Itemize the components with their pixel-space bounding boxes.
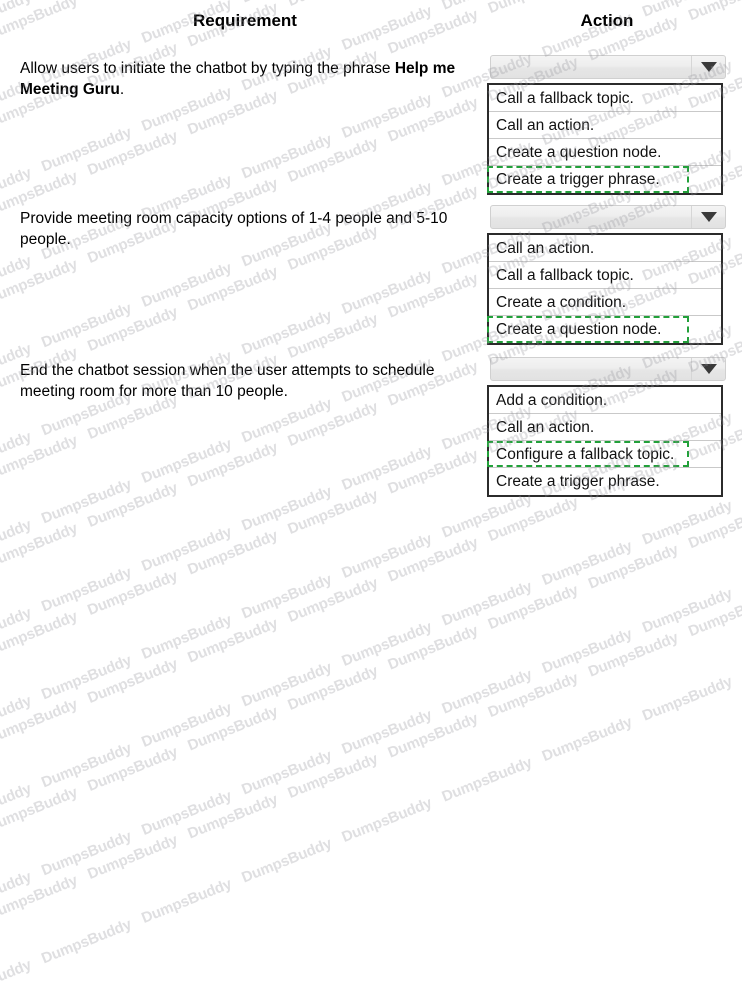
action-option-list-3[interactable]: Add a condition. Call an action. Configu… <box>487 385 723 497</box>
watermark-text: DumpsBuddy <box>335 778 452 859</box>
watermark-text: DumpsBuddy <box>381 605 498 686</box>
watermark-text: DumpsBuddy <box>0 940 51 992</box>
watermark-text: DumpsBuddy <box>80 815 197 896</box>
watermark-text: DumpsBuddy <box>735 528 742 609</box>
watermark-text: DumpsBuddy <box>134 595 251 676</box>
watermark-text: DumpsBuddy <box>34 635 151 716</box>
requirement-text: Provide meeting room capacity options of… <box>20 208 465 250</box>
action-option-list-2[interactable]: Call an action. Call a fallback topic. C… <box>487 233 723 345</box>
watermark-text: DumpsBuddy <box>0 679 97 760</box>
requirement-text-suffix: . <box>120 81 124 98</box>
watermark-text: DumpsBuddy <box>335 602 452 683</box>
watermark-text: DumpsBuddy <box>0 855 97 936</box>
watermark-text: DumpsBuddy <box>435 561 552 642</box>
requirement-text: End the chatbot session when the user at… <box>20 360 465 402</box>
watermark-text: DumpsBuddy <box>180 510 297 591</box>
watermark-text: DumpsBuddy <box>234 730 351 811</box>
option-item[interactable]: Create a trigger phrase. <box>489 468 721 495</box>
watermark-text: DumpsBuddy <box>281 734 398 815</box>
chevron-down-icon[interactable] <box>691 358 725 380</box>
option-item[interactable]: Create a question node. <box>489 139 721 166</box>
option-item[interactable]: Create a condition. <box>489 289 721 316</box>
option-item[interactable]: Call an action. <box>489 112 721 139</box>
watermark-text: DumpsBuddy <box>80 639 197 720</box>
watermark-text: DumpsBuddy <box>481 565 598 646</box>
watermark-row: DumpsBuddyDumpsBuddyDumpsBuddyDumpsBuddy… <box>0 626 742 992</box>
option-item[interactable]: Call a fallback topic. <box>489 85 721 112</box>
watermark-text: DumpsBuddy <box>335 514 452 595</box>
option-item-selected[interactable]: Create a question node. <box>489 316 721 343</box>
option-item-selected[interactable]: Configure a fallback topic. <box>489 441 721 468</box>
watermark-text: DumpsBuddy <box>80 727 197 808</box>
watermark-text: DumpsBuddy <box>34 899 151 980</box>
watermark-text: DumpsBuddy <box>381 693 498 774</box>
watermark-text: DumpsBuddy <box>681 572 742 653</box>
watermark-row: DumpsBuddyDumpsBuddyDumpsBuddyDumpsBuddy… <box>0 561 742 976</box>
watermark-text: DumpsBuddy <box>0 764 51 845</box>
watermark-text: DumpsBuddy <box>0 588 51 669</box>
watermark-text: DumpsBuddy <box>535 697 652 778</box>
watermark-text: DumpsBuddy <box>134 859 251 940</box>
action-dropdown-closed-1[interactable] <box>490 55 726 79</box>
watermark-text: DumpsBuddy <box>481 653 598 734</box>
watermark-text: DumpsBuddy <box>335 690 452 771</box>
watermark-text: DumpsBuddy <box>180 686 297 767</box>
column-header-action: Action <box>487 11 727 31</box>
requirement-text-prefix: Provide meeting room capacity options of… <box>20 210 447 248</box>
watermark-text: DumpsBuddy <box>34 723 151 804</box>
watermark-text: DumpsBuddy <box>0 767 97 848</box>
action-dropdown-closed-2[interactable] <box>490 205 726 229</box>
watermark-row: DumpsBuddyDumpsBuddyDumpsBuddyDumpsBuddy… <box>0 538 742 933</box>
watermark-row: DumpsBuddyDumpsBuddyDumpsBuddyDumpsBuddy… <box>0 450 742 845</box>
watermark-text: DumpsBuddy <box>381 517 498 598</box>
watermark-text: DumpsBuddy <box>0 852 51 933</box>
chevron-down-icon[interactable] <box>691 206 725 228</box>
watermark-text: DumpsBuddy <box>535 609 652 690</box>
option-item[interactable]: Call an action. <box>489 235 721 262</box>
watermark-text: DumpsBuddy <box>180 774 297 855</box>
watermark-text: DumpsBuddy <box>281 558 398 639</box>
watermark-text: DumpsBuddy <box>134 771 251 852</box>
option-item[interactable]: Call a fallback topic. <box>489 262 721 289</box>
action-dropdown-closed-3[interactable] <box>490 357 726 381</box>
watermark-text: DumpsBuddy <box>180 598 297 679</box>
option-item[interactable]: Add a condition. <box>489 387 721 414</box>
watermark-text: DumpsBuddy <box>34 811 151 892</box>
watermark-text: DumpsBuddy <box>581 524 698 605</box>
watermark-text: DumpsBuddy <box>435 737 552 818</box>
watermark-text: DumpsBuddy <box>234 642 351 723</box>
watermark-text: DumpsBuddy <box>581 612 698 693</box>
option-item[interactable]: Call an action. <box>489 414 721 441</box>
watermark-row: DumpsBuddyDumpsBuddyDumpsBuddyDumpsBuddy… <box>0 473 742 888</box>
watermark-text: DumpsBuddy <box>635 568 742 649</box>
watermark-text: DumpsBuddy <box>0 676 51 757</box>
watermark-text: DumpsBuddy <box>735 616 742 697</box>
watermark-text: DumpsBuddy <box>281 646 398 727</box>
requirement-text-prefix: End the chatbot session when the user at… <box>20 362 434 400</box>
chevron-down-icon[interactable] <box>691 56 725 78</box>
watermark-text: DumpsBuddy <box>134 683 251 764</box>
watermark-text: DumpsBuddy <box>134 507 251 588</box>
action-option-list-1[interactable]: Call a fallback topic. Call an action. C… <box>487 83 723 195</box>
watermark-text: DumpsBuddy <box>635 656 742 737</box>
watermark-text: DumpsBuddy <box>0 591 97 672</box>
watermark-text: DumpsBuddy <box>80 551 197 632</box>
watermark-text: DumpsBuddy <box>435 649 552 730</box>
column-header-requirement: Requirement <box>0 11 490 31</box>
watermark-text: DumpsBuddy <box>535 521 652 602</box>
watermark-text: DumpsBuddy <box>0 503 97 584</box>
requirement-text: Allow users to initiate the chatbot by t… <box>20 58 465 100</box>
question-page: Requirement Action Allow users to initia… <box>0 0 742 496</box>
watermark-text: DumpsBuddy <box>234 554 351 635</box>
option-item-selected[interactable]: Create a trigger phrase. <box>489 166 721 193</box>
watermark-text: DumpsBuddy <box>0 500 51 581</box>
requirement-text-prefix: Allow users to initiate the chatbot by t… <box>20 60 395 77</box>
watermark-text: DumpsBuddy <box>234 818 351 899</box>
watermark-text: DumpsBuddy <box>34 547 151 628</box>
